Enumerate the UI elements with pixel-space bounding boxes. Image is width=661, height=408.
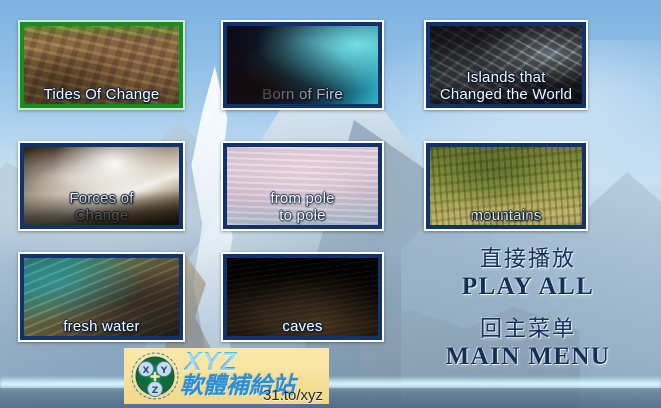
chapter-thumb-image-forces-of-change: Forces of Change bbox=[24, 147, 179, 225]
chapter-thumb-image-born-of-fire: Born of Fire bbox=[227, 26, 378, 104]
play-all-label-cn: 直接播放 bbox=[404, 247, 652, 273]
chapter-thumb-label-islands-changed-world: Islands that Changed the World bbox=[430, 69, 582, 103]
main-menu-label-en: MAIN MENU bbox=[404, 343, 652, 371]
watermark-url: 31.to/xyz bbox=[263, 387, 323, 404]
chapter-thumb-label-mountains: mountains bbox=[430, 208, 582, 224]
chapter-thumb-label-tides-of-change: Tides Of Change bbox=[24, 87, 179, 103]
chapter-thumb-label-from-pole-to-pole: from pole to pole bbox=[227, 190, 378, 224]
main-menu-button[interactable]: 回主菜单 MAIN MENU bbox=[404, 317, 652, 371]
play-all-button[interactable]: 直接播放 PLAY ALL bbox=[404, 247, 652, 301]
chapter-thumb-image-caves: caves bbox=[227, 258, 378, 336]
dvd-menu-screen: Tides Of ChangeBorn of FireIslands that … bbox=[0, 0, 661, 408]
chapter-thumb-image-mountains: mountains bbox=[430, 147, 582, 225]
chapter-thumb-image-tides-of-change: Tides Of Change bbox=[24, 26, 179, 104]
svg-text:Z: Z bbox=[152, 386, 159, 396]
chapter-thumb-tides-of-change[interactable]: Tides Of Change bbox=[18, 20, 185, 110]
play-all-label-en: PLAY ALL bbox=[404, 273, 652, 301]
watermark-banner: X Y Z XYZ 軟體補給站 31.to/xyz bbox=[124, 348, 329, 404]
xyz-logo-icon: X Y Z bbox=[130, 351, 180, 401]
chapter-thumb-label-born-of-fire: Born of Fire bbox=[227, 87, 378, 103]
main-menu-label-cn: 回主菜单 bbox=[404, 317, 652, 343]
watermark-text: XYZ 軟體補給站 31.to/xyz bbox=[180, 348, 327, 404]
svg-text:Y: Y bbox=[160, 366, 168, 376]
bottom-shadow-band bbox=[0, 388, 661, 408]
chapter-thumb-born-of-fire[interactable]: Born of Fire bbox=[221, 20, 384, 110]
chapter-thumb-label-caves: caves bbox=[227, 319, 378, 335]
chapter-thumb-from-pole-to-pole[interactable]: from pole to pole bbox=[221, 141, 384, 231]
menu-actions: 直接播放 PLAY ALL 回主菜单 MAIN MENU bbox=[404, 247, 652, 387]
chapter-thumb-label-forces-of-change: Forces of Change bbox=[24, 190, 179, 224]
chapter-thumb-label-fresh-water: fresh water bbox=[24, 319, 179, 335]
chapter-thumb-caves[interactable]: caves bbox=[221, 252, 384, 342]
chapter-thumb-mountains[interactable]: mountains bbox=[424, 141, 588, 231]
chapter-thumb-fresh-water[interactable]: fresh water bbox=[18, 252, 185, 342]
chapter-thumb-islands-changed-world[interactable]: Islands that Changed the World bbox=[424, 20, 588, 110]
chapter-thumb-image-from-pole-to-pole: from pole to pole bbox=[227, 147, 378, 225]
chapter-thumb-image-fresh-water: fresh water bbox=[24, 258, 179, 336]
chapter-thumb-forces-of-change[interactable]: Forces of Change bbox=[18, 141, 185, 231]
svg-text:X: X bbox=[143, 366, 150, 376]
chapter-thumb-image-islands-changed-world: Islands that Changed the World bbox=[430, 26, 582, 104]
